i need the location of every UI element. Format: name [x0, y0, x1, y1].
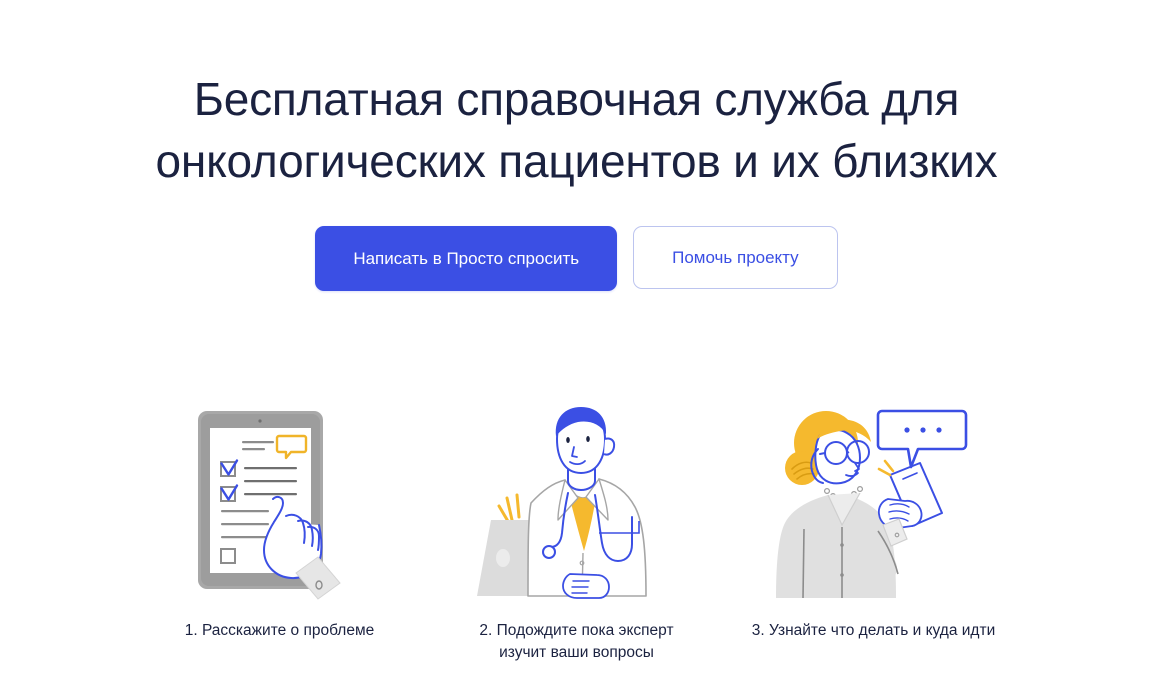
step-caption: 2. Подождите пока эксперт изучит ваши во…	[479, 620, 673, 664]
cta-button-group: Написать в Просто спросить Помочь проект…	[0, 226, 1153, 291]
write-to-prosto-sprosit-button[interactable]: Написать в Просто спросить	[315, 226, 617, 291]
steps-section: 1. Расскажите о проблеме	[0, 398, 1153, 664]
tablet-checklist-hand-icon	[165, 398, 395, 598]
step-caption: 1. Расскажите о проблеме	[185, 620, 374, 642]
help-project-button[interactable]: Помочь проекту	[633, 226, 838, 289]
page-title: Бесплатная справочная служба для онколог…	[0, 68, 1153, 192]
step-item: 3. Узнайте что делать и куда идти	[729, 398, 1019, 642]
landing-page: Бесплатная справочная служба для онколог…	[0, 0, 1153, 696]
doctor-laptop-icon	[462, 398, 692, 598]
step-item: 2. Подождите пока эксперт изучит ваши во…	[432, 398, 722, 664]
step-caption: 3. Узнайте что делать и куда идти	[752, 620, 995, 642]
woman-phone-speech-bubble-icon	[759, 398, 989, 598]
step-item: 1. Расскажите о проблеме	[135, 398, 425, 642]
